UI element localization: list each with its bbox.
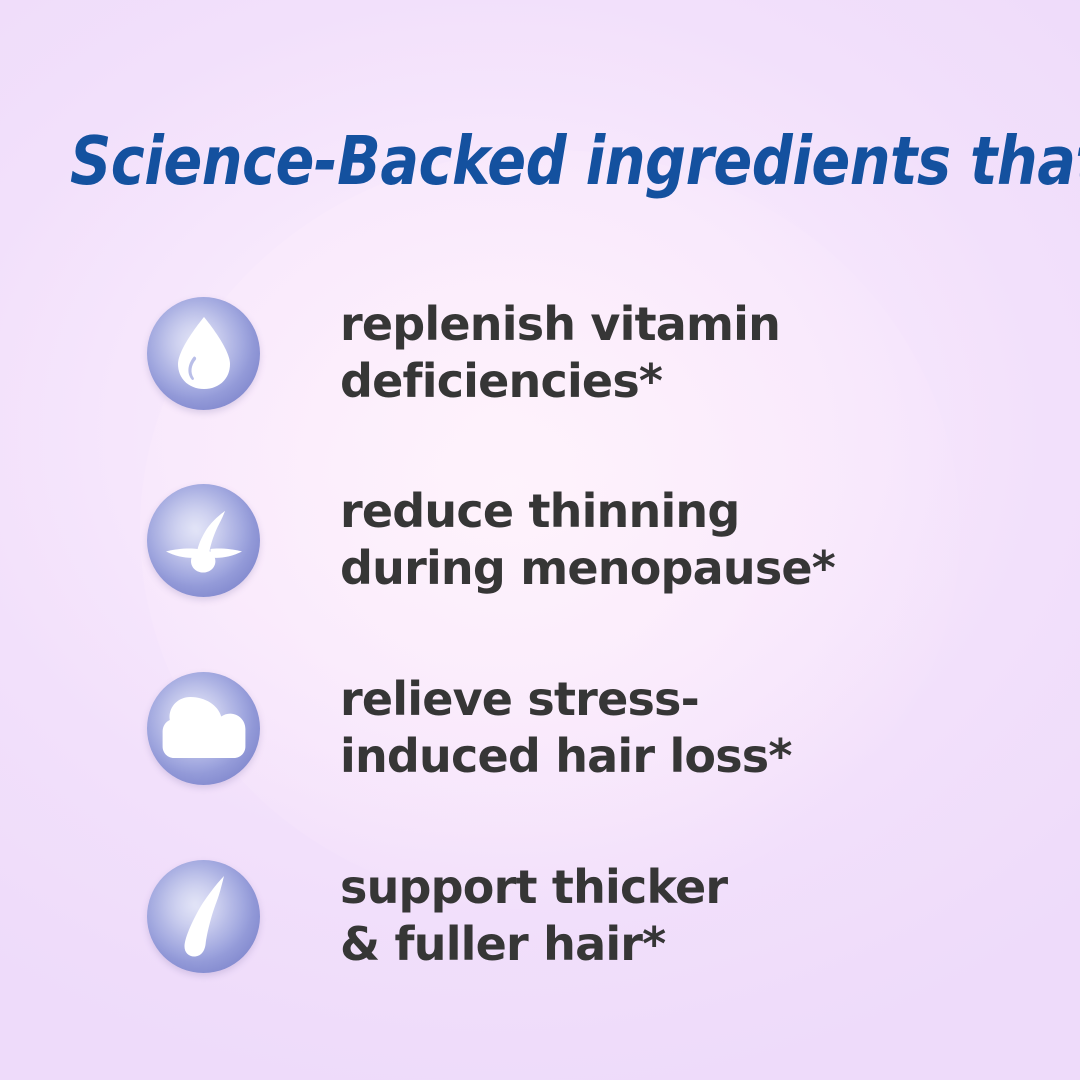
benefit-label: replenish vitamin deficiencies* [340, 296, 780, 411]
benefit-row: reduce thinning during menopause* [147, 480, 1007, 600]
hair-strand-icon [174, 874, 234, 958]
page-title: Science-Backed ingredients that: [70, 126, 982, 196]
benefit-label: reduce thinning during menopause* [340, 483, 835, 598]
benefit-row: relieve stress- induced hair loss* [147, 668, 1007, 788]
benefit-icon-badge [147, 672, 260, 785]
benefit-row: support thicker & fuller hair* [147, 856, 1007, 976]
benefit-icon-badge [147, 484, 260, 597]
benefit-icon-badge [147, 860, 260, 973]
promo-graphic: Science-Backed ingredients that: repleni… [0, 0, 1080, 1080]
benefit-label: support thicker & fuller hair* [340, 859, 727, 974]
benefit-icon-badge [147, 297, 260, 410]
benefit-row: replenish vitamin deficiencies* [147, 293, 1007, 413]
cloud-icon [162, 696, 246, 760]
water-droplet-icon [173, 315, 235, 391]
benefit-label: relieve stress- induced hair loss* [340, 671, 792, 786]
hair-follicle-icon [163, 505, 245, 575]
